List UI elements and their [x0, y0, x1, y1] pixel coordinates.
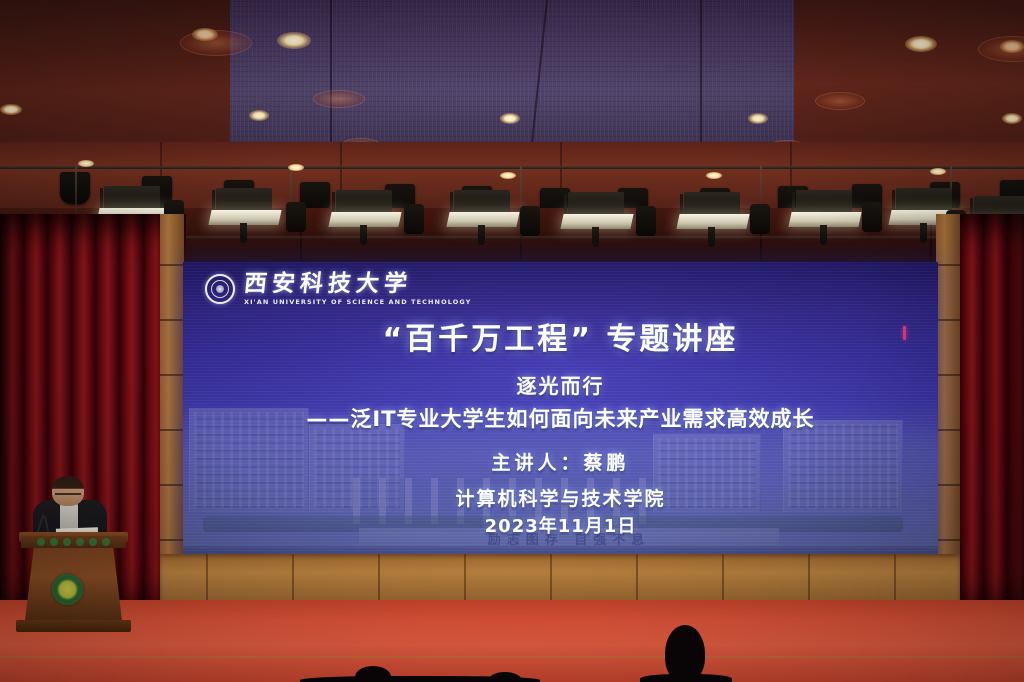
- stage-par-can: [520, 206, 540, 236]
- truss-indicator-light: [500, 172, 516, 179]
- lecture-subtitle-1: 逐光而行: [183, 370, 938, 399]
- stage-fresnel-light: [448, 190, 522, 246]
- ceiling-side-left: [0, 0, 230, 152]
- stage-wall-panel: [160, 554, 960, 606]
- stage-fresnel-light: [330, 190, 404, 246]
- stage-fresnel-light: [210, 188, 284, 244]
- stage-par-can: [636, 206, 656, 236]
- university-crest-icon: [52, 574, 83, 605]
- ceiling-downlight: [1002, 113, 1022, 124]
- presentation-screen[interactable]: 励志图存 自强不息 西安科技大学 XI'AN UNIVERSITY OF SCI…: [183, 262, 938, 554]
- ceiling-downlight: [277, 32, 311, 49]
- ceiling-downlight: [905, 36, 937, 52]
- ceiling-downlight: [748, 113, 768, 124]
- truss-indicator-light: [706, 172, 722, 179]
- ceiling-vent-icon: [313, 90, 365, 108]
- truss-indicator-light: [930, 168, 946, 175]
- ceiling-vent-icon: [180, 30, 252, 56]
- university-name-cn: 西安科技大学: [243, 272, 473, 296]
- audience-shoulder-silhouette: [300, 676, 540, 682]
- lecture-department: 计算机科学与技术学院: [183, 484, 938, 511]
- stage-fresnel-light: [790, 190, 864, 246]
- ceiling-vent-icon: [815, 92, 865, 110]
- truss-rail: [0, 166, 1024, 169]
- stage-par-can: [750, 204, 770, 234]
- podium-trim-band: [21, 536, 126, 548]
- truss-indicator-light: [288, 164, 304, 171]
- ceiling-downlight: [249, 110, 269, 121]
- stage-par-can: [286, 202, 306, 232]
- lecture-subtitle-2: ——泛IT专业大学生如何面向未来产业需求高效成长: [183, 403, 938, 433]
- lecture-title: “百千万工程” 专题讲座: [183, 314, 938, 358]
- podium-and-presenter: [0, 470, 160, 645]
- stage-fresnel-light: [562, 192, 636, 248]
- lecture-date: 2023年11月1日: [183, 512, 938, 538]
- screen-pixel-marker: [903, 326, 906, 340]
- lecture-speaker: 主讲人：蔡鹏: [183, 448, 938, 475]
- ceiling-downlight: [0, 104, 22, 115]
- university-seal-icon: [205, 274, 235, 304]
- audience-shoulder-silhouette: [640, 674, 732, 682]
- presenter-glasses-icon: [55, 493, 81, 498]
- presenter-head: [52, 476, 84, 506]
- campus-ground: [183, 546, 938, 554]
- stage-par-can: [862, 202, 882, 232]
- podium-base: [16, 620, 131, 632]
- university-name-en: XI'AN UNIVERSITY OF SCIENCE AND TECHNOLO…: [244, 298, 471, 306]
- stage-par-can: [404, 204, 424, 234]
- university-logo: 西安科技大学 XI'AN UNIVERSITY OF SCIENCE AND T…: [205, 272, 471, 306]
- ceiling-side-right: [794, 0, 1024, 152]
- ceiling-downlight: [500, 113, 520, 124]
- auditorium-photo: 励志图存 自强不息 西安科技大学 XI'AN UNIVERSITY OF SCI…: [0, 0, 1024, 682]
- stage-fresnel-light: [678, 192, 752, 248]
- truss-indicator-light: [78, 160, 94, 167]
